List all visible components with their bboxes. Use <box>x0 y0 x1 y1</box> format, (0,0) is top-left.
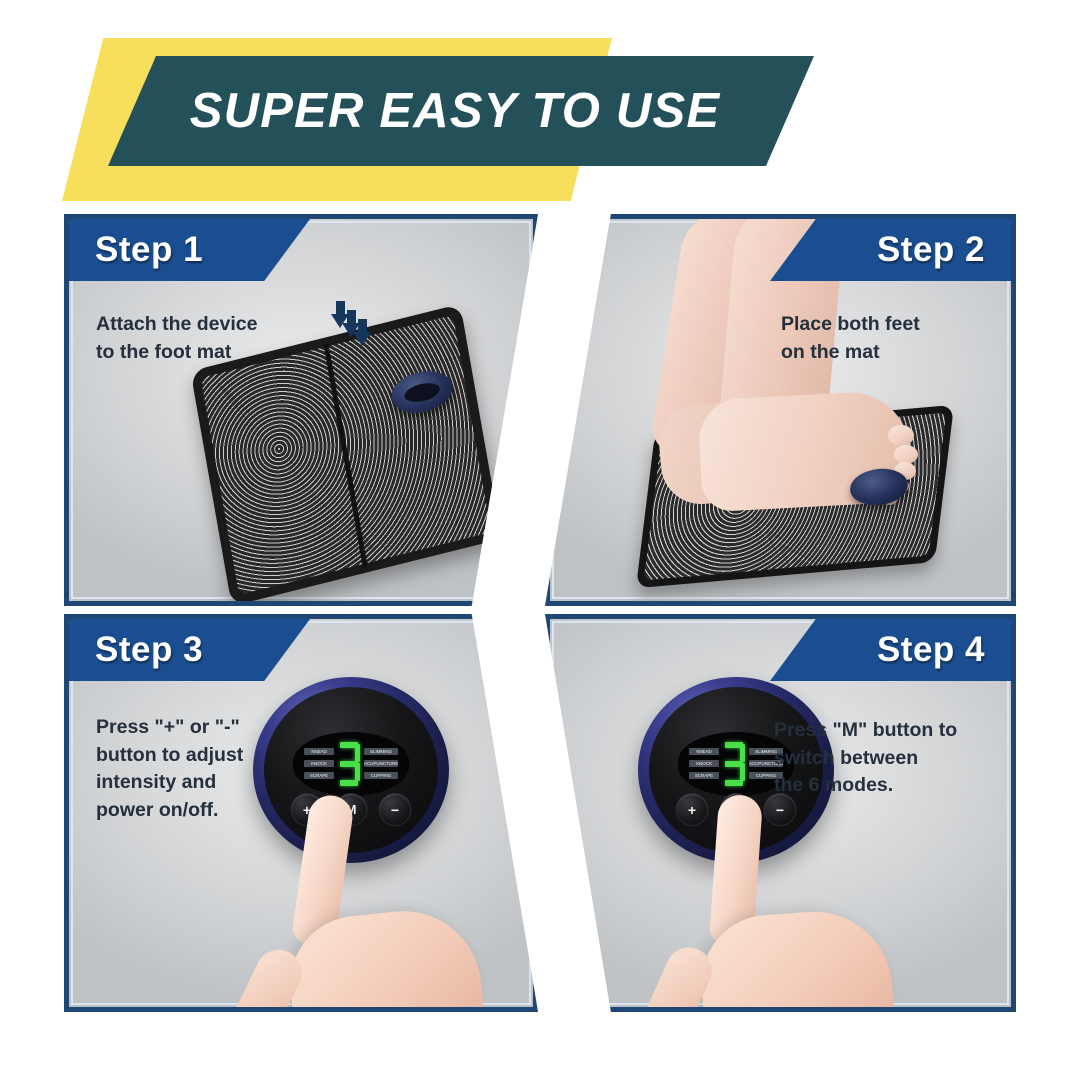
step-label-1: Step 1 <box>95 230 203 270</box>
plus-button[interactable]: + <box>676 793 709 826</box>
step-description-2: Place both feet on the mat <box>781 311 981 366</box>
step-panel-4[interactable]: KNEAD KNOCK SCRAPE SLIMMING <box>545 614 1016 1012</box>
minus-button[interactable]: − <box>379 793 412 826</box>
display-digit-4 <box>723 742 745 786</box>
mode-labels-left: KNEAD KNOCK SCRAPE <box>689 748 719 779</box>
mode-labels-right: SLIMMING ACUPUNCTURE CUPPING <box>364 748 398 779</box>
step-description-4: Press "M" button to switch between the 6… <box>774 717 989 800</box>
mode-label: KNEAD <box>689 748 719 755</box>
step-description-3: Press "+" or "-" button to adjust intens… <box>96 714 316 825</box>
step-label-2: Step 2 <box>877 230 985 270</box>
header-banner: SUPER EASY TO USE <box>0 0 1080 190</box>
steps-grid: Step 1 Attach the device to the foot mat <box>64 214 1016 1012</box>
mode-label: CUPPING <box>364 772 398 779</box>
step-panel-2[interactable]: Step 2 Place both feet on the mat <box>545 214 1016 606</box>
down-arrows-group <box>331 301 353 319</box>
mode-label: SCRAPE <box>689 772 719 779</box>
step-panel-3[interactable]: KNEAD KNOCK SCRAPE SLIMMING <box>64 614 538 1012</box>
step-label-4: Step 4 <box>877 630 985 670</box>
page-title: SUPER EASY TO USE <box>190 83 721 139</box>
step-description-1: Attach the device to the foot mat <box>96 311 306 366</box>
mode-label: SLIMMING <box>364 748 398 755</box>
mode-label: ACUPUNCTURE <box>364 760 398 767</box>
banner-teal-plate: SUPER EASY TO USE <box>108 56 814 166</box>
display-digit-3 <box>338 742 360 786</box>
step-panel-1[interactable]: Step 1 Attach the device to the foot mat <box>64 214 538 606</box>
mode-label: KNOCK <box>689 760 719 767</box>
step-label-3: Step 3 <box>95 630 203 670</box>
